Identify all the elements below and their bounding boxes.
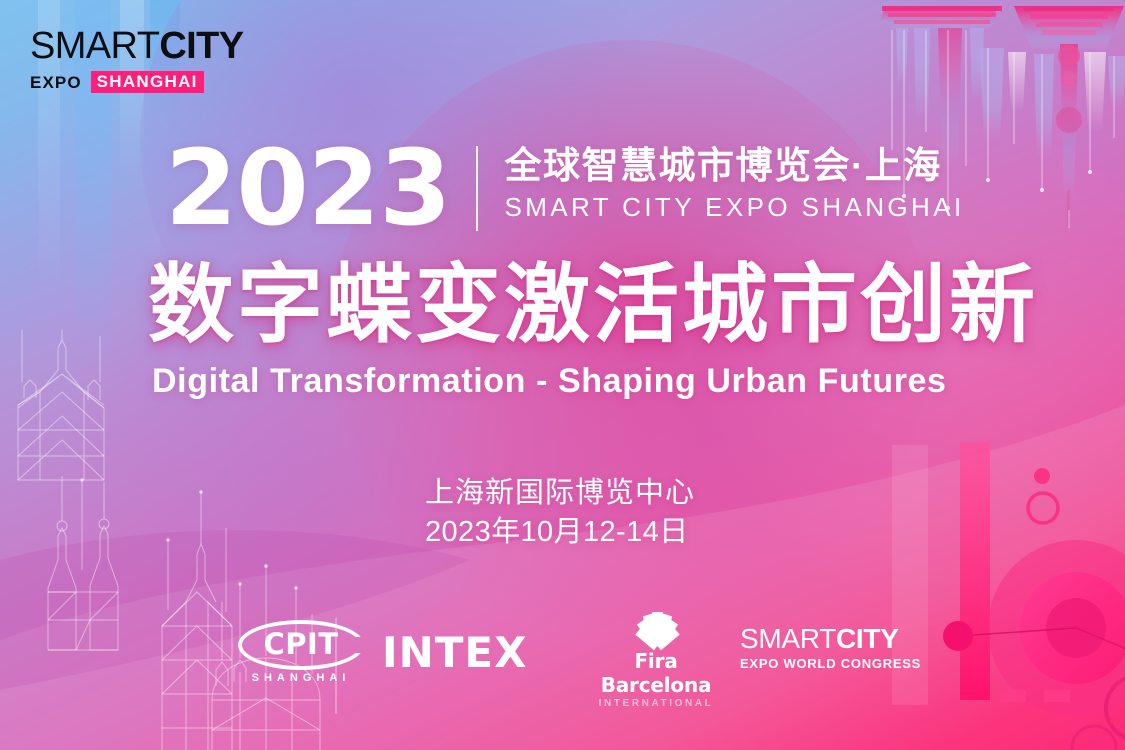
theme-tagline-en: Digital Transformation - Shaping Urban F… [152,360,947,402]
year-title-row: 2023 全球智慧城市博览会·上海 SMART CITY EXPO SHANGH… [165,140,965,236]
venue-date: 2023年10月12-14日 [425,513,695,552]
fira-wordmark: Fira Barcelona [586,649,726,697]
venue-block: 上海新国际博览中心 2023年10月12-14日 [425,474,695,552]
cpit-shanghai-label: SHANGHAI [238,672,364,685]
scewc-smart: SMART [740,623,836,654]
event-name-en: SMART CITY EXPO SHANGHAI [504,192,964,222]
title-divider [476,146,478,231]
cpit-wordmark: CPIT [252,627,350,661]
fira-international-label: INTERNATIONAL [586,697,726,710]
sponsor-logo-row: CPIT SHANGHAI INTEX Fira Barcelona INTER… [0,612,1125,700]
scewc-city: CITY [836,623,899,654]
cpit-shanghai-logo: CPIT SHANGHAI [238,614,368,690]
venue-name: 上海新国际博览中心 [425,474,695,513]
fira-fan-icon [608,610,704,646]
event-poster: SMARTCITY EXPO SHANGHAI 2023 全球智慧城市博览会·上… [0,0,1125,750]
fira-barcelona-logo: Fira Barcelona INTERNATIONAL [586,610,726,710]
theme-headline-cn: 数字蝶变激活城市创新 [148,258,1038,352]
event-name-block: 全球智慧城市博览会·上海 SMART CITY EXPO SHANGHAI [504,140,964,222]
smart-city-expo-world-congress-logo: SMARTCITY EXPO WORLD CONGRESS [740,624,921,671]
scewc-wordmark: SMARTCITY [740,624,921,654]
scewc-subline: EXPO WORLD CONGRESS [740,656,921,671]
intex-wordmark: INTEX [382,630,528,676]
event-year: 2023 [165,140,450,236]
event-name-cn: 全球智慧城市博览会·上海 [504,144,964,187]
intex-logo: INTEX [382,630,528,676]
